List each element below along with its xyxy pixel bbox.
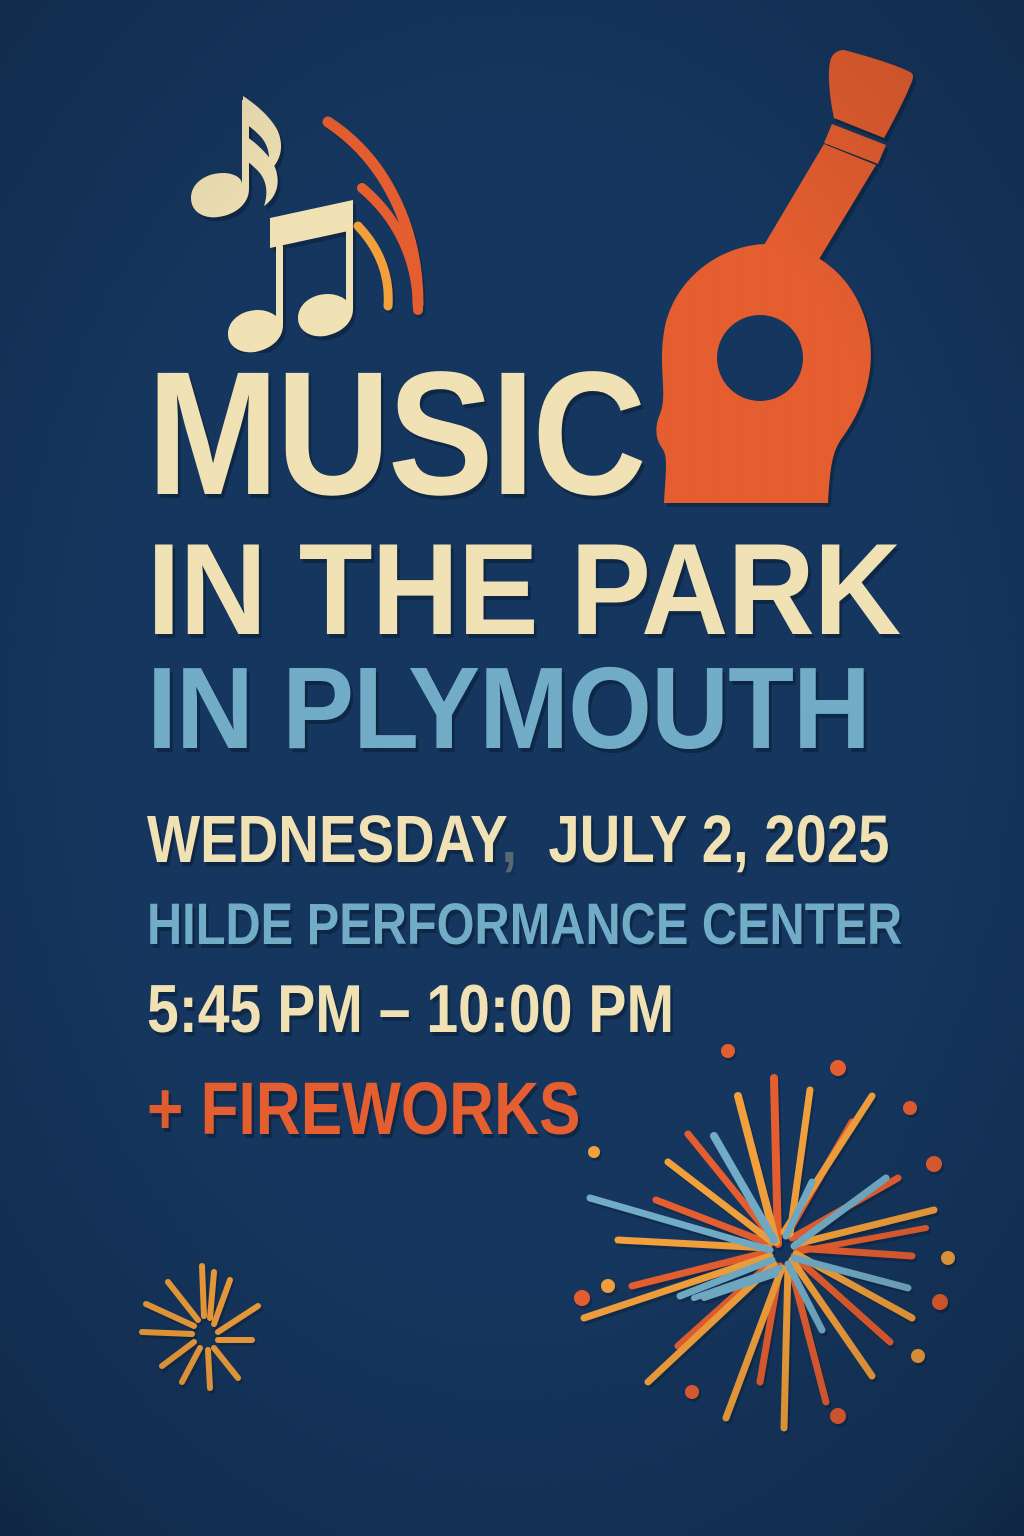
firework-small-graphic — [118, 1258, 318, 1448]
poster-headline: MUSIC — [147, 346, 644, 522]
event-date-day: WEDNESDAY — [147, 802, 501, 877]
poster-subline: IN THE PARK — [147, 524, 900, 654]
firework-burst-large-icon — [574, 1044, 955, 1428]
acoustic-guitar-icon — [656, 50, 913, 503]
firework-large-graphic — [560, 1030, 1024, 1460]
music-notes-graphic — [150, 78, 480, 353]
event-extra-fireworks: + FIREWORKS — [147, 1072, 580, 1146]
firework-burst-small-icon — [142, 1266, 258, 1388]
guitar-sound-hole-icon — [717, 315, 803, 401]
guitar-graphic — [648, 48, 948, 508]
music-notes-icon — [191, 96, 353, 352]
poster-canvas: MUSIC IN THE PARK IN PLYMOUTH WEDNESDAY,… — [0, 0, 1024, 1536]
event-date: WEDNESDAY, JULY 2, 2025 — [147, 806, 889, 873]
event-date-comma: , — [501, 802, 517, 877]
poster-cityline: IN PLYMOUTH — [147, 650, 870, 766]
event-date-rest: JULY 2, 2025 — [548, 802, 889, 877]
event-date-spacer — [517, 802, 548, 877]
event-venue: HILDE PERFORMANCE CENTER — [147, 896, 902, 954]
event-time: 5:45 PM – 10:00 PM — [147, 975, 674, 1043]
